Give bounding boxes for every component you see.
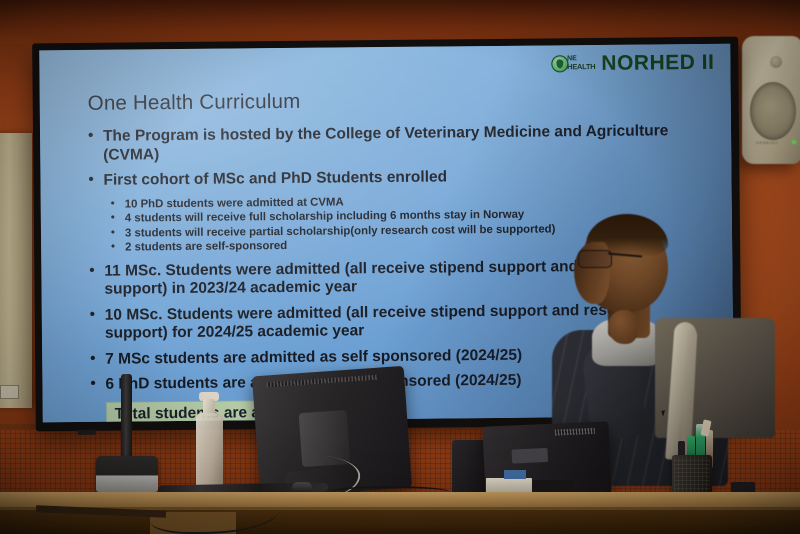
norhed-program-label: NORHED II: [601, 52, 714, 74]
presentation-room-photo: GENELEC NE HEALTH NORHED II One Health C…: [0, 0, 800, 534]
monitor-vent: [266, 375, 378, 388]
gooseneck-microphone-base[interactable]: [96, 456, 158, 492]
slide-bullet: First cohort of MSc and PhD Students enr…: [86, 166, 686, 190]
one-health-logo: NE HEALTH: [551, 55, 595, 72]
glasses-icon: [578, 250, 612, 268]
speaker-woofer-icon: [750, 82, 796, 140]
globe-africa-icon: [551, 55, 568, 72]
one-health-health-label: HEALTH: [567, 63, 595, 71]
one-health-text: NE HEALTH: [567, 55, 595, 70]
speaker-tweeter-icon: [770, 56, 782, 68]
monitor-label-plate: [512, 448, 549, 464]
norhed-one-health-logo: NE HEALTH NORHED II: [551, 52, 714, 75]
studio-monitor-speaker: GENELEC: [742, 36, 800, 164]
speaker-power-led: [792, 140, 796, 144]
pen-cup-mesh: [674, 457, 710, 497]
blue-folder[interactable]: [504, 470, 526, 479]
slide-title: One Health Curriculum: [88, 90, 301, 116]
display-foot: [78, 430, 96, 435]
monitor-vent: [555, 428, 595, 436]
wall-panel: [0, 133, 32, 408]
gooseneck-microphone-stem[interactable]: [121, 374, 132, 460]
wall-outlet-plate[interactable]: [0, 385, 19, 399]
speaker-brand-label: GENELEC: [756, 140, 779, 145]
hand-sanitizer-bottle[interactable]: [196, 413, 223, 493]
presenter-hand: [608, 310, 638, 344]
slide-bullet: The Program is hosted by the College of …: [86, 122, 686, 165]
